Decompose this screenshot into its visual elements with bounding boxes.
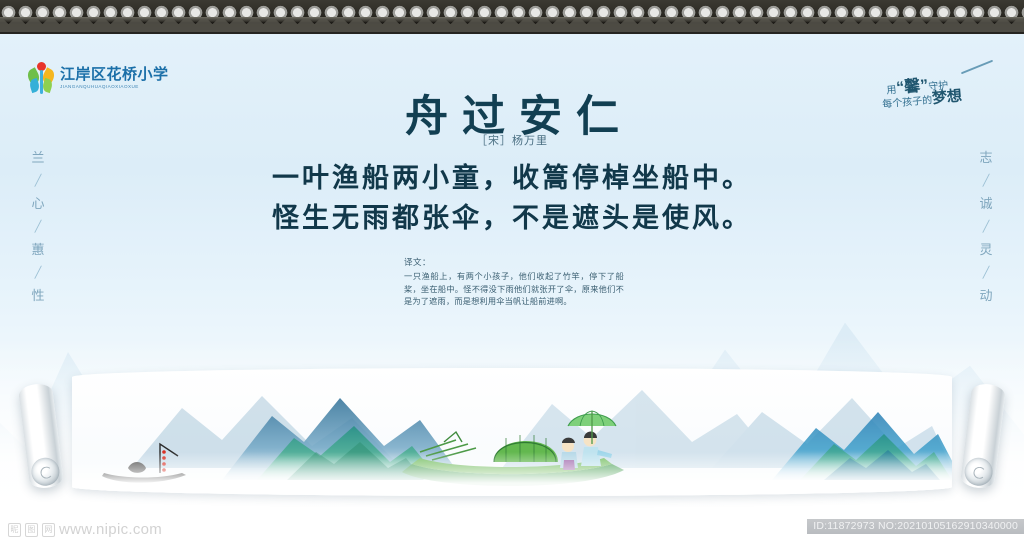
poem-line-1: 一叶渔船两小童，收篙停棹坐船中。	[0, 158, 1024, 198]
motto-right-char-2: 诚	[966, 196, 1006, 212]
motto-right-sep-1: ╱	[966, 166, 1006, 196]
motto-right-char-3: 灵	[966, 242, 1006, 258]
school-name-cn: 江岸区花桥小学	[60, 66, 169, 83]
motto-right-vertical: 志 ╱ 诚 ╱ 灵 ╱ 动	[966, 150, 1006, 304]
motto-left-sep-3: ╱	[18, 258, 58, 288]
ink-scroll-artwork	[0, 358, 1024, 518]
motto-left-sep-1: ╱	[18, 166, 58, 196]
roof-tile-teeth	[0, 19, 1024, 32]
motto-left-char-4: 性	[18, 288, 58, 304]
roof-tile-border	[0, 0, 1024, 34]
nipic-watermark: 昵 图 网 www.nipic.com	[8, 521, 162, 538]
poem-author: ［宋］杨万里	[0, 132, 1024, 148]
scroll-roller-right-cap	[963, 456, 994, 487]
scroll-roller-left	[18, 382, 64, 489]
translation-text: 一只渔船上，有两个小孩子，他们收起了竹竿，停下了船桨，坐在船中。怪不得没下雨他们…	[404, 271, 624, 309]
translation-label: 译文：	[404, 256, 624, 268]
motto-right-char-1: 志	[966, 150, 1006, 166]
watermark-char-3: 网	[42, 523, 55, 537]
slogan-brush-stroke-icon	[961, 60, 993, 75]
image-id-label: ID:11872973 NO:20210105162910340000	[807, 519, 1024, 534]
scroll-roller-left-cap	[30, 456, 61, 487]
poster-canvas: 江岸区花桥小学 JIANGANQUHUAQIAOXIAOXUE 用“馨”守护 每…	[0, 0, 1024, 545]
motto-left-char-2: 心	[18, 196, 58, 212]
scroll-paper	[72, 368, 952, 496]
motto-right-sep-3: ╱	[966, 258, 1006, 288]
motto-right-sep-2: ╱	[966, 212, 1006, 242]
scroll-roller-right	[960, 382, 1006, 489]
motto-right-char-4: 动	[966, 288, 1006, 304]
translation-block: 译文： 一只渔船上，有两个小孩子，他们收起了竹竿，停下了船桨，坐在船中。怪不得没…	[404, 256, 624, 309]
motto-left-char-1: 兰	[18, 150, 58, 166]
motto-left-char-3: 蕙	[18, 242, 58, 258]
watermark-char-1: 昵	[8, 523, 21, 537]
poem-body: 一叶渔船两小童，收篙停棹坐船中。 怪生无雨都张伞，不是遮头是使风。	[0, 158, 1024, 238]
watermark-char-2: 图	[25, 523, 38, 537]
motto-left-vertical: 兰 ╱ 心 ╱ 蕙 ╱ 性	[18, 150, 58, 304]
footer-bar: 昵 图 网 www.nipic.com ID:11872973 NO:20210…	[0, 517, 1024, 545]
poem-line-2: 怪生无雨都张伞，不是遮头是使风。	[0, 198, 1024, 238]
motto-left-sep-2: ╱	[18, 212, 58, 242]
scroll-landscape-svg	[72, 368, 952, 496]
watermark-url: www.nipic.com	[59, 521, 162, 538]
